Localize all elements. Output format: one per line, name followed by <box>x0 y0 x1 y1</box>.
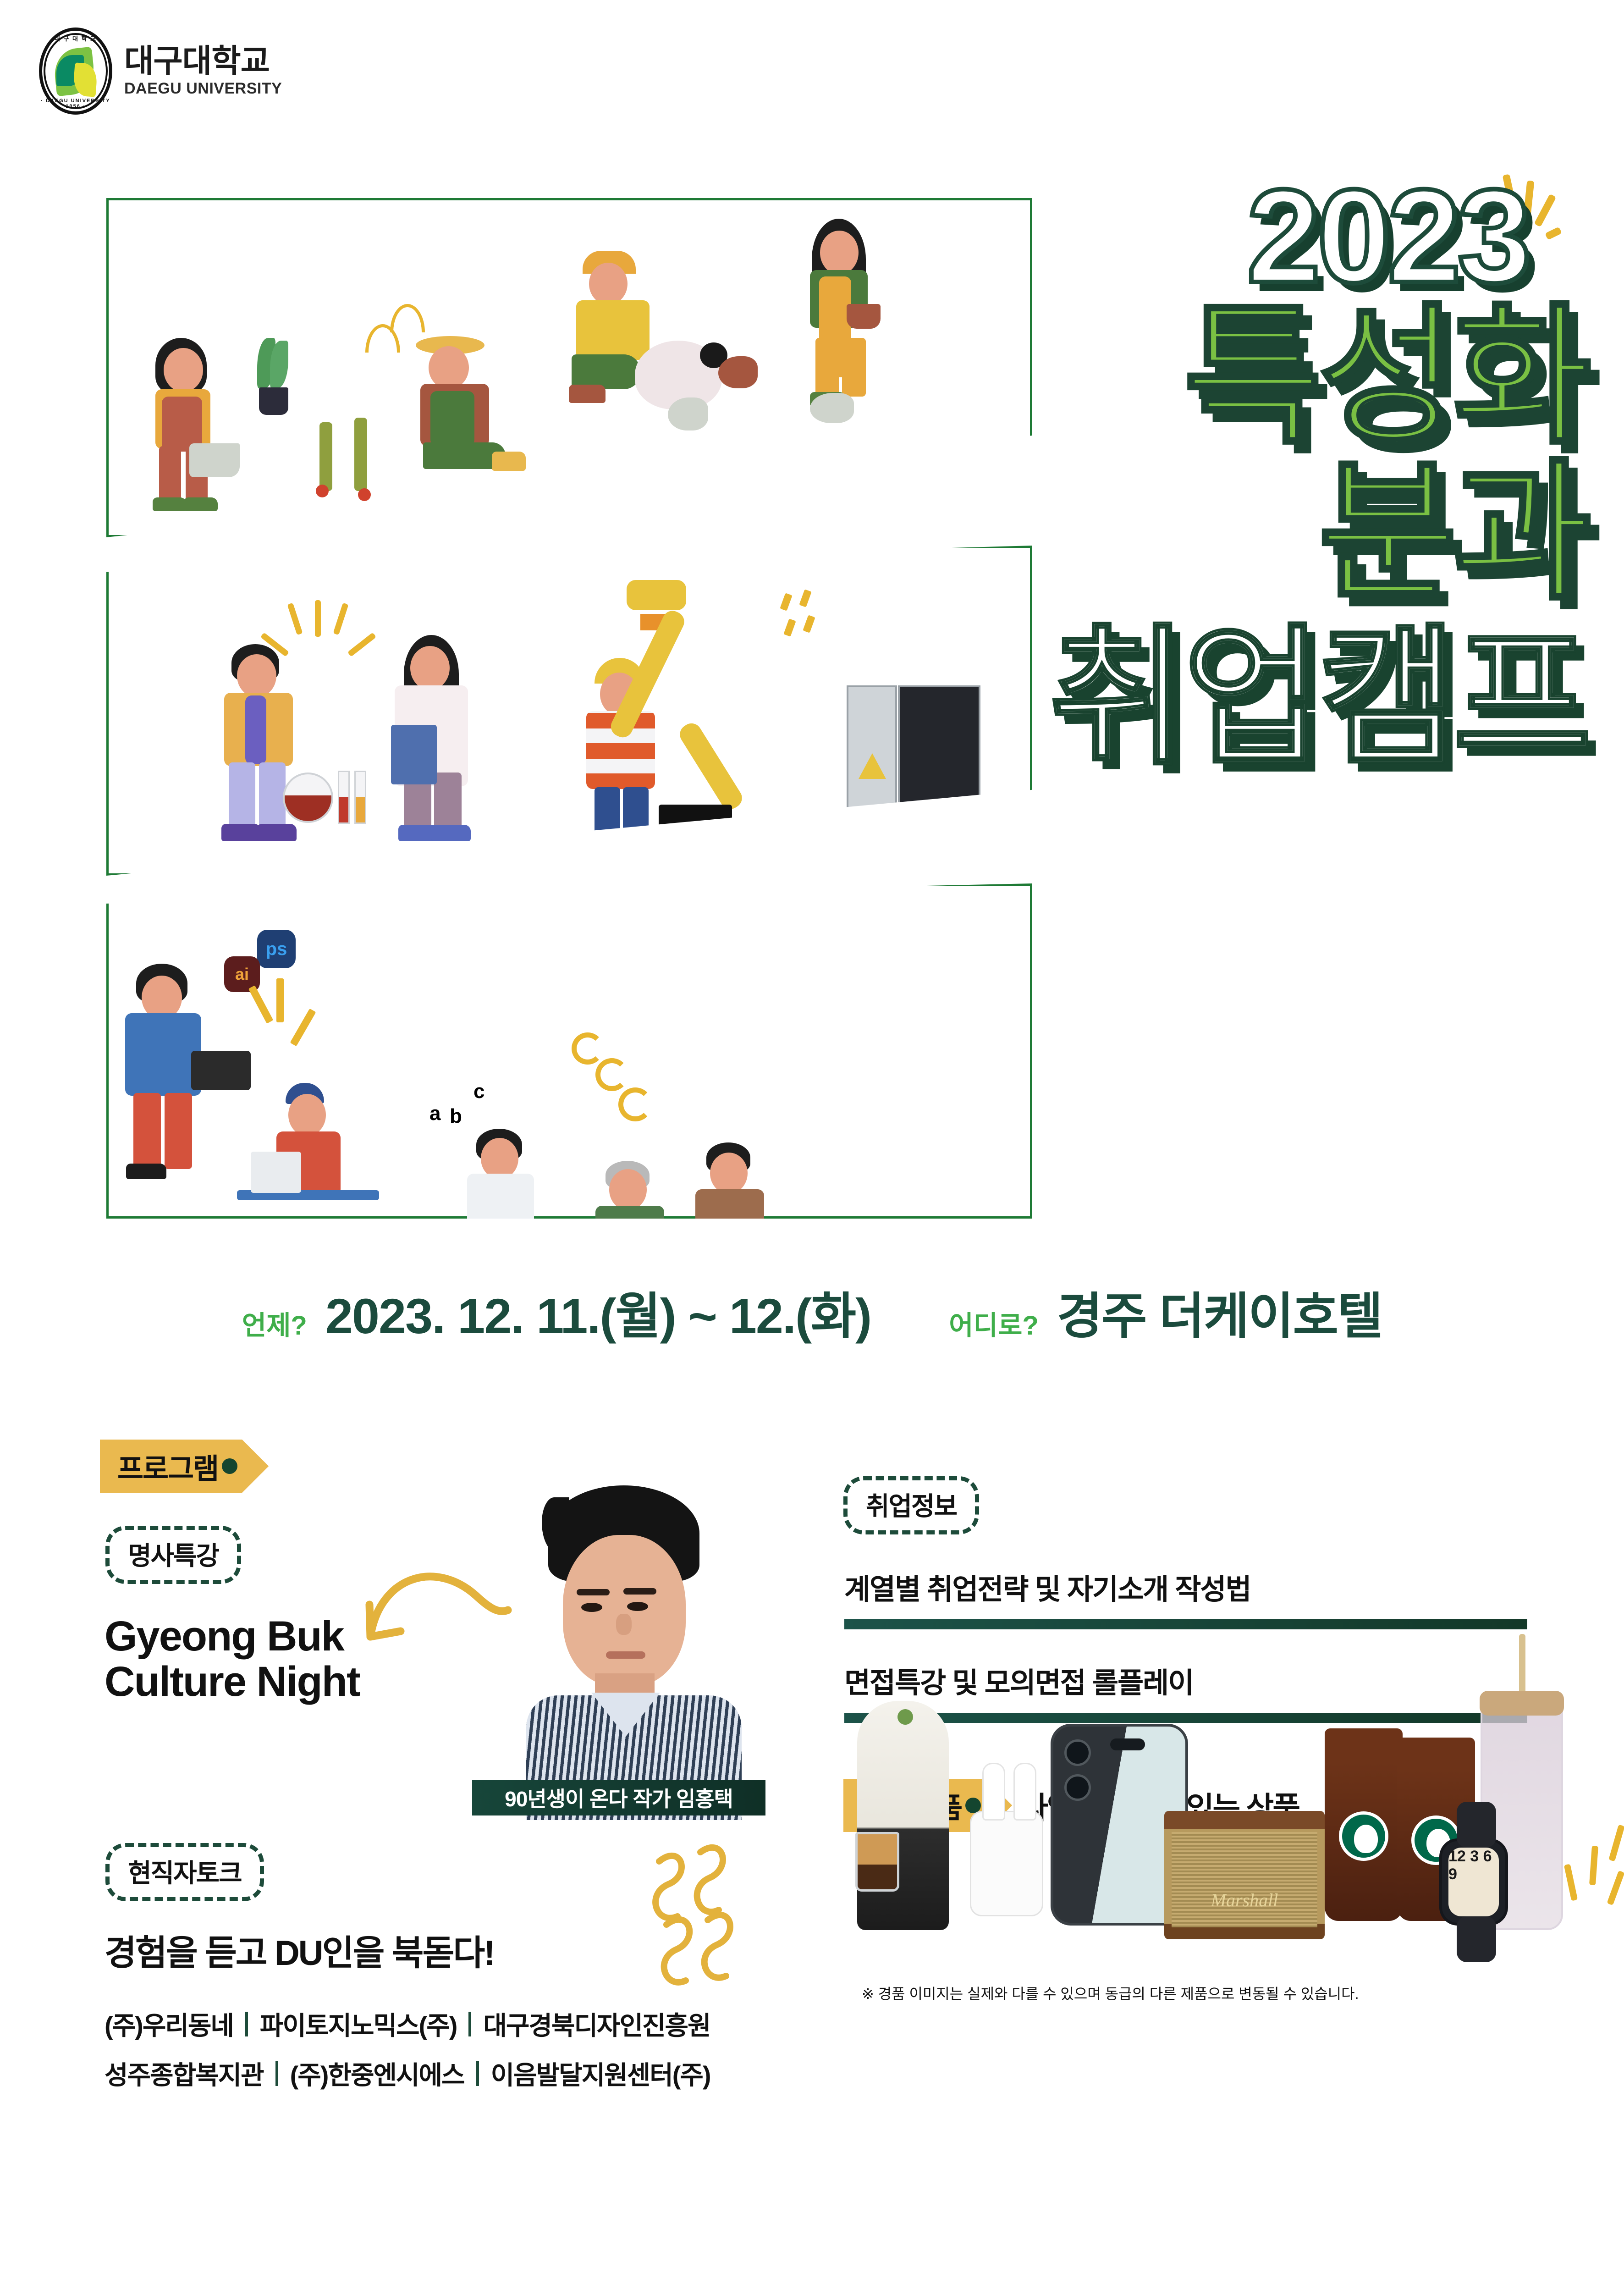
job-info-item-1: 계열별 취업전략 및 자기소개 작성법 <box>844 1566 1527 1629</box>
sparkle-decoration <box>1563 1825 1624 1916</box>
org-name: 이음발달지원센터(주) <box>491 2055 710 2092</box>
earbuds-image <box>970 1811 1043 1916</box>
title-year: 2023 <box>1247 170 1528 303</box>
divider <box>468 2012 471 2036</box>
speaker-photo: 90년생이 온다 작가 임홍택 <box>508 1481 765 1820</box>
divider <box>245 2012 248 2036</box>
robot-arm-icon <box>627 580 778 837</box>
speaker-title-line-2: Culture Night <box>105 1659 360 1705</box>
university-seal-icon: 대 구 대 학 교 · DAEGU UNIVERSITY 1956 · <box>39 28 112 115</box>
decorative-squiggle <box>390 304 425 332</box>
talk-badge: 현직자토크 <box>105 1843 264 1901</box>
org-name: 대구경북디자인진흥원 <box>483 2005 710 2042</box>
chicken-icon <box>810 393 854 423</box>
program-tag-label: 프로그램 <box>117 1446 218 1487</box>
spiral-decoration <box>567 1032 668 1147</box>
sparkle-decoration <box>246 971 356 1054</box>
speaker-caption-bar: 90년생이 온다 작가 임홍택 <box>472 1780 765 1815</box>
speaker-badge: 명사특강 <box>105 1526 241 1584</box>
talk-badge-label: 현직자토크 <box>128 1859 242 1887</box>
orgs-row-1: (주)우리동네 파이토지노믹스(주) 대구경북디자인진흥원 <box>105 2005 710 2042</box>
figure-designer-standing <box>122 964 232 1179</box>
steam-decoration-icon <box>641 1843 751 1994</box>
figure-designer-desk <box>246 1083 429 1234</box>
seal-top-text: 대 구 대 학 교 <box>39 34 112 43</box>
figure-doctor <box>384 635 494 841</box>
event-datetime-location: 언제? 2023. 12. 11.(월) ~ 12.(화) 어디로? 경주 더케… <box>0 1284 1624 1348</box>
figure-farmer-watering <box>145 338 228 512</box>
org-name: 파이토지노믹스(주) <box>260 2005 457 2042</box>
logo-korean-name: 대구대학교 <box>124 45 282 77</box>
speaker-brand-label: Marshall <box>1164 1889 1325 1911</box>
poster-root: 대 구 대 학 교 · DAEGU UNIVERSITY 1956 · 대구대학… <box>0 0 1624 2290</box>
speaker-title: Gyeong Buk Culture Night <box>105 1614 360 1705</box>
title-line-2: 분과 <box>1318 463 1587 602</box>
poster-title-block: 2023 특성화 분과 취업캠프 <box>964 170 1596 1224</box>
chicken-icon <box>718 356 758 388</box>
prize-products: Marshall 12 3 6 9 ※ 경품 이미지는 실제와 다를 <box>843 1673 1540 1994</box>
prize-disclaimer: ※ 경품 이미지는 실제와 다를 수 있으며 동급의 다른 제품으로 변동될 수… <box>862 1982 1359 2003</box>
illustration-panel-design-welfare: ps ai <box>106 883 1032 1219</box>
curved-arrow-icon <box>361 1550 512 1646</box>
speaker-title-line-1: Gyeong Buk <box>105 1614 360 1659</box>
divider-rule <box>844 1619 1527 1629</box>
program-column: 프로그램 명사특강 Gyeong Buk Culture Night <box>100 1440 842 2265</box>
university-logo: 대 구 대 학 교 · DAEGU UNIVERSITY 1956 · 대구대학… <box>39 28 282 115</box>
seal-bottom-text: · DAEGU UNIVERSITY 1956 · <box>39 98 112 109</box>
smartwatch-image: 12 3 6 9 <box>1439 1838 1508 1926</box>
lab-flask-icon <box>283 745 374 837</box>
logo-english-name: DAEGU UNIVERSITY <box>124 80 282 98</box>
program-tag: 프로그램 <box>100 1440 269 1493</box>
coffee-machine-image <box>857 1701 949 1930</box>
content-area: 프로그램 명사특강 Gyeong Buk Culture Night <box>0 1440 1624 2265</box>
when-label: 언제? <box>242 1304 307 1348</box>
job-info-badge-label: 취업정보 <box>866 1492 957 1521</box>
speaker-caption: 90년생이 온다 작가 임홍택 <box>505 1782 733 1813</box>
bluetooth-speaker-image: Marshall <box>1164 1811 1325 1939</box>
where-label: 어디로? <box>949 1304 1039 1348</box>
info-prizes-column: 취업정보 계열별 취업전략 및 자기소개 작성법 면접특강 및 모의면접 롤플레… <box>843 1476 1540 2265</box>
org-name: (주)한중엔시에스 <box>290 2055 464 2092</box>
figure-gardener <box>796 219 888 411</box>
org-name: (주)우리동네 <box>105 2005 233 2042</box>
figure-shepherd <box>567 251 718 411</box>
job-info-badge: 취업정보 <box>843 1476 979 1534</box>
divider <box>275 2061 278 2086</box>
divider <box>476 2061 479 2086</box>
watch-face-digits: 12 3 6 9 <box>1448 1848 1499 1916</box>
title-line-1: 특성화 <box>1184 307 1587 447</box>
coffee-cup-image <box>1325 1728 1403 1921</box>
tag-dot-icon <box>222 1458 237 1474</box>
electrical-cabinet-icon <box>847 685 984 841</box>
chicken-icon <box>668 397 708 430</box>
speaker-badge-label: 명사특강 <box>128 1541 219 1570</box>
illustration-panel-agriculture <box>106 198 1032 537</box>
org-name: 성주종합복지관 <box>105 2055 264 2092</box>
when-value: 2023. 12. 11.(월) ~ 12.(화) <box>325 1276 871 1348</box>
talk-headline: 경험을 듣고 DU인을 북돋다! <box>105 1925 494 1975</box>
plant-pot-icon <box>244 338 304 420</box>
sparkle-decoration <box>269 603 384 695</box>
illustration-frame: ps ai <box>106 198 1032 1219</box>
abc-letters: a b c <box>429 1078 484 1129</box>
orgs-row-2: 성주종합복지관 (주)한중엔시에스 이음발달지원센터(주) <box>105 2055 710 2092</box>
crop-plants <box>310 416 448 512</box>
illustration-panel-engineering <box>106 546 1032 876</box>
where-value: 경주 더케이호텔 <box>1057 1276 1382 1348</box>
title-line-3: 취업캠프 <box>1049 628 1587 767</box>
